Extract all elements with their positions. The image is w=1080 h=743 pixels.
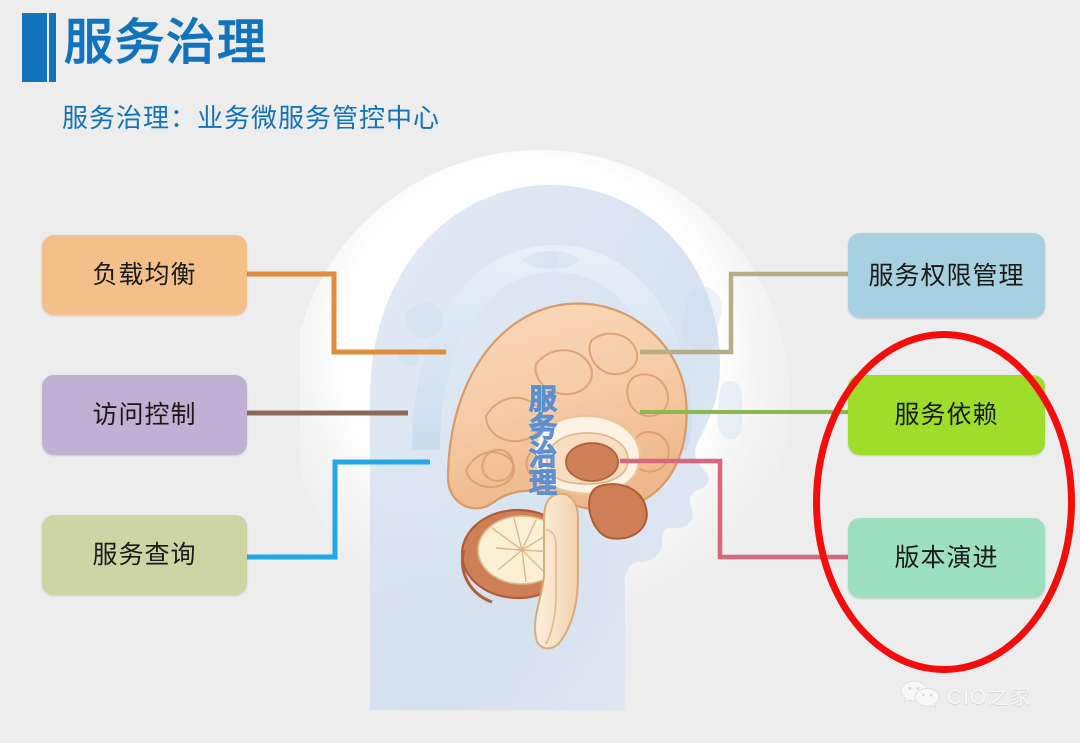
page-title: 服务治理	[64, 10, 268, 76]
page-subtitle: 服务治理：业务微服务管控中心	[62, 98, 440, 135]
center-label: 服务治理	[518, 372, 558, 507]
node-load-balance-label: 负载均衡	[92, 260, 196, 290]
red-ellipse-highlight-annotation	[813, 331, 1075, 673]
node-service-query-label: 服务查询	[92, 540, 196, 570]
node-service-query[interactable]: 服务查询	[42, 515, 247, 595]
node-access-control-label: 访问控制	[92, 400, 196, 430]
watermark-label: CIO之家	[947, 681, 1031, 711]
watermark: CIO之家	[900, 678, 1031, 713]
node-service-auth-label: 服务权限管理	[868, 261, 1024, 291]
node-load-balance[interactable]: 负载均衡	[42, 235, 247, 315]
node-service-auth[interactable]: 服务权限管理	[848, 233, 1045, 318]
wechat-logo-icon	[900, 678, 940, 713]
node-access-control[interactable]: 访问控制	[42, 375, 247, 455]
slide-canvas: 服务治理 服务治理：业务微服务管控中心	[0, 0, 1080, 743]
title-bar-marker-icon	[22, 13, 56, 82]
